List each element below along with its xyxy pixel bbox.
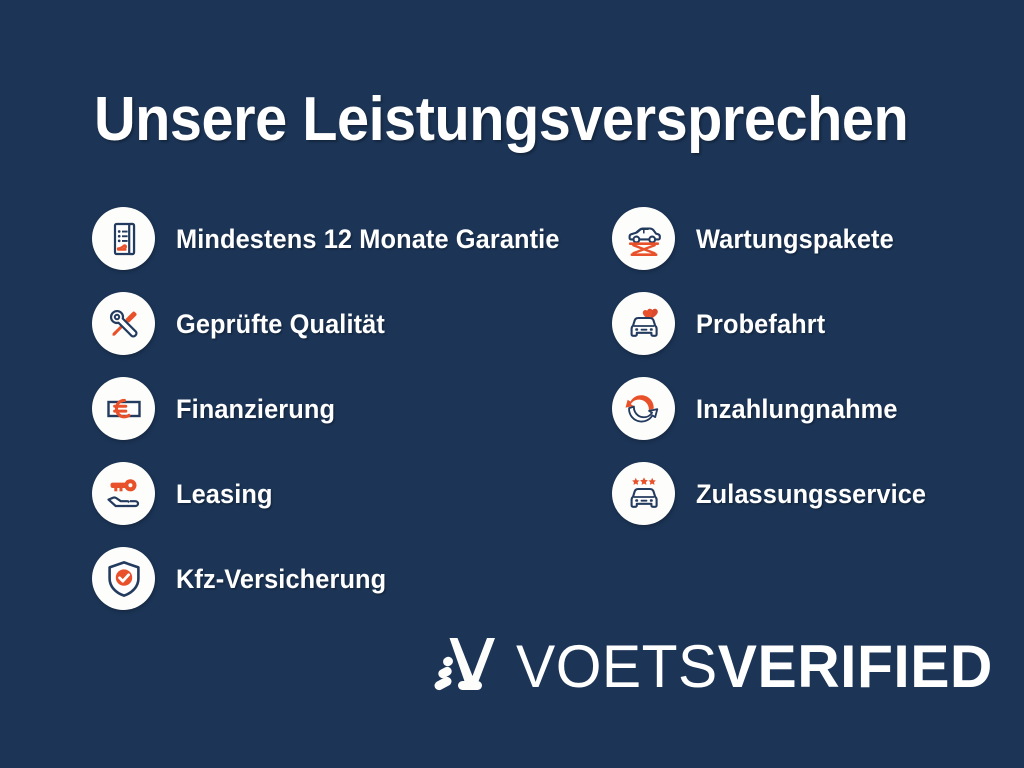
banknote-euro-icon — [92, 377, 155, 440]
feature-item-wartungspakete[interactable]: Wartungspakete — [612, 196, 1022, 281]
wrench-screwdriver-icon — [92, 292, 155, 355]
feature-column-left: Mindestens 12 Monate Garantie — [92, 196, 612, 621]
feature-label: Probefahrt — [696, 309, 825, 339]
feature-column-right: Wartungspakete — [612, 196, 1022, 536]
logo-verified-text: VERIFIED — [718, 633, 993, 700]
feature-item-inzahlungnahme[interactable]: Inzahlungnahme — [612, 366, 1022, 451]
feature-label: Wartungspakete — [696, 224, 894, 254]
feature-label: Kfz-Versicherung — [176, 564, 386, 594]
car-stars-icon — [612, 462, 675, 525]
feature-item-versicherung[interactable]: Kfz-Versicherung — [92, 536, 612, 621]
feature-item-qualitaet[interactable]: Geprüfte Qualität — [92, 281, 612, 366]
car-lift-icon — [612, 207, 675, 270]
car-hearts-icon — [612, 292, 675, 355]
feature-label: Zulassungsservice — [696, 479, 926, 509]
feature-item-finanzierung[interactable]: Finanzierung — [92, 366, 612, 451]
feature-item-zulassungsservice[interactable]: Zulassungsservice — [612, 451, 1022, 536]
feature-label: Inzahlungnahme — [696, 394, 898, 424]
shield-check-icon — [92, 547, 155, 610]
feature-label: Geprüfte Qualität — [176, 309, 385, 339]
document-certificate-icon — [92, 207, 155, 270]
feature-label: Finanzierung — [176, 394, 335, 424]
logo-wordmark: VOETSVERIFIED — [516, 636, 993, 698]
exchange-arrows-icon — [612, 377, 675, 440]
voets-v-checkmark-icon — [434, 632, 496, 702]
feature-label: Mindestens 12 Monate Garantie — [176, 224, 560, 254]
promo-banner: Unsere Leistungsversprechen — [0, 0, 1024, 768]
feature-label: Leasing — [176, 479, 273, 509]
feature-item-garantie[interactable]: Mindestens 12 Monate Garantie — [92, 196, 612, 281]
logo-voets-text: VOETS — [516, 633, 718, 700]
key-in-hand-icon — [92, 462, 155, 525]
feature-item-probefahrt[interactable]: Probefahrt — [612, 281, 1022, 366]
voets-verified-logo[interactable]: VOETSVERIFIED — [434, 632, 1003, 702]
page-title: Unsere Leistungsversprechen — [94, 86, 908, 154]
feature-item-leasing[interactable]: Leasing — [92, 451, 612, 536]
